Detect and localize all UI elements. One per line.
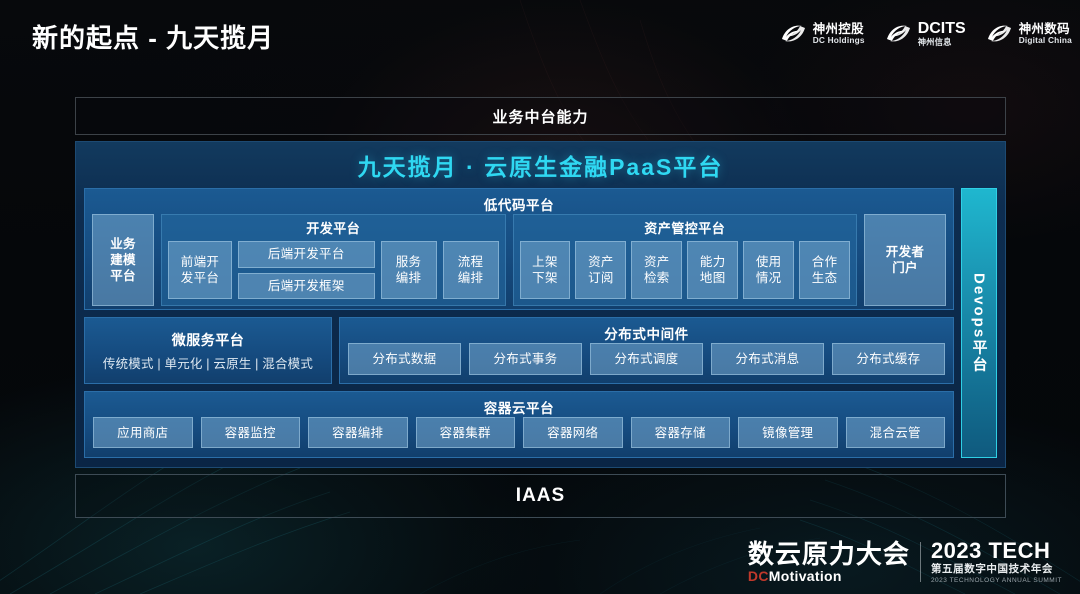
architecture-diagram: 业务中台能力 九天揽月 · 云原生金融PaaS平台 低代码平台 业务 建模 平台… bbox=[75, 97, 1006, 519]
logo-dc-holdings: 神州控股 DC Holdings bbox=[780, 22, 865, 45]
middleware-title: 分布式中间件 bbox=[348, 318, 945, 343]
chip-distributed-scheduling[interactable]: 分布式调度 bbox=[590, 343, 703, 375]
devops-platform-label: Devops平台 bbox=[969, 273, 990, 373]
chip-backend-dev-framework[interactable]: 后端开发框架 bbox=[238, 273, 375, 300]
asset-control-title: 资产管控平台 bbox=[520, 215, 851, 241]
summit-divider bbox=[920, 542, 921, 582]
iaas-label: IAAS bbox=[516, 485, 565, 507]
devops-platform-sidebar[interactable]: Devops平台 bbox=[961, 188, 997, 458]
chip-image-management[interactable]: 镜像管理 bbox=[738, 417, 838, 448]
logo-text: DCITS 神州信息 bbox=[918, 20, 966, 47]
asset-control-subpanel: 资产管控平台 上架 下架 资产 订阅 资产 检索 能力 地图 使用 情况 合作 … bbox=[513, 214, 858, 306]
container-cloud-row: 应用商店 容器监控 容器编排 容器集群 容器网络 容器存储 镜像管理 混合云管 bbox=[93, 417, 945, 448]
summit-year: 2023 TECH bbox=[931, 539, 1062, 563]
summit-name-cn: 数云原力大会 bbox=[748, 541, 910, 567]
chip-service-orchestration[interactable]: 服务 编排 bbox=[381, 241, 437, 299]
dev-platform-row: 前端开 发平台 后端开发平台 后端开发框架 服务 编排 流程 编排 bbox=[168, 241, 499, 299]
chip-asset-search[interactable]: 资产 检索 bbox=[631, 241, 682, 299]
chip-container-orchestration[interactable]: 容器编排 bbox=[308, 417, 408, 448]
paas-platform-title: 九天揽月 · 云原生金融PaaS平台 bbox=[76, 142, 1005, 188]
chip-asset-listing[interactable]: 上架 下架 bbox=[520, 241, 571, 299]
chip-asset-subscription[interactable]: 资产 订阅 bbox=[575, 241, 626, 299]
summit-name-en-suffix: Motivation bbox=[769, 568, 842, 584]
chip-distributed-data[interactable]: 分布式数据 bbox=[348, 343, 461, 375]
asset-control-row: 上架 下架 资产 订阅 资产 检索 能力 地图 使用 情况 合作 生态 bbox=[520, 241, 851, 299]
logo-label-en: DC Holdings bbox=[813, 36, 865, 45]
chip-container-cluster[interactable]: 容器集群 bbox=[416, 417, 516, 448]
backend-chip-stack: 后端开发平台 后端开发框架 bbox=[238, 241, 375, 299]
chip-usage-status[interactable]: 使用 情况 bbox=[743, 241, 794, 299]
swirl-logo-icon bbox=[885, 23, 912, 44]
logo-digital-china: 神州数码 Digital China bbox=[986, 22, 1072, 45]
chip-container-network[interactable]: 容器网络 bbox=[523, 417, 623, 448]
chip-distributed-message[interactable]: 分布式消息 bbox=[711, 343, 824, 375]
middleware-row: 分布式数据 分布式事务 分布式调度 分布式消息 分布式缓存 bbox=[348, 343, 945, 375]
chip-frontend-dev-platform[interactable]: 前端开 发平台 bbox=[168, 241, 232, 299]
chip-distributed-transaction[interactable]: 分布式事务 bbox=[469, 343, 582, 375]
logo-label-cn: DCITS bbox=[918, 20, 966, 38]
logo-label-cn: 神州控股 bbox=[813, 22, 865, 36]
summit-logo: 数云原力大会 DCMotivation 2023 TECH 第五届数字中国技术年… bbox=[748, 539, 1062, 584]
logo-label-cn: 神州数码 bbox=[1019, 22, 1072, 36]
dev-platform-subpanel: 开发平台 前端开 发平台 后端开发平台 后端开发框架 服务 编排 流程 编排 bbox=[161, 214, 506, 306]
microservice-platform-subtitle: 传统模式 | 单元化 | 云原生 | 混合模式 bbox=[103, 353, 313, 372]
summit-logo-right: 2023 TECH 第五届数字中国技术年会 2023 TECHNOLOGY AN… bbox=[931, 539, 1062, 584]
container-cloud-title: 容器云平台 bbox=[93, 392, 945, 417]
paas-layer-stack: 低代码平台 业务 建模 平台 开发平台 前端开 发平台 后端开发平台 后端开发框… bbox=[84, 188, 954, 458]
chip-process-orchestration[interactable]: 流程 编排 bbox=[443, 241, 499, 299]
chip-partner-ecosystem[interactable]: 合作 生态 bbox=[799, 241, 850, 299]
paas-body: 低代码平台 业务 建模 平台 开发平台 前端开 发平台 后端开发平台 后端开发框… bbox=[76, 188, 1005, 466]
logo-text: 神州控股 DC Holdings bbox=[813, 22, 865, 45]
chip-container-monitoring[interactable]: 容器监控 bbox=[201, 417, 301, 448]
summit-logo-left: 数云原力大会 DCMotivation bbox=[748, 541, 910, 583]
summit-name-en: DCMotivation bbox=[748, 569, 910, 583]
logo-dcits: DCITS 神州信息 bbox=[885, 20, 966, 47]
microservice-platform-title: 微服务平台 bbox=[172, 330, 245, 350]
logo-text: 神州数码 Digital China bbox=[1019, 22, 1072, 45]
chip-developer-portal[interactable]: 开发者 门户 bbox=[864, 214, 946, 306]
chip-capability-map[interactable]: 能力 地图 bbox=[687, 241, 738, 299]
logo-label-en: 神州信息 bbox=[918, 38, 966, 47]
chip-app-store[interactable]: 应用商店 bbox=[93, 417, 193, 448]
lowcode-platform-title: 低代码平台 bbox=[92, 189, 946, 214]
chip-container-storage[interactable]: 容器存储 bbox=[631, 417, 731, 448]
swirl-logo-icon bbox=[986, 23, 1013, 44]
chip-distributed-cache[interactable]: 分布式缓存 bbox=[832, 343, 945, 375]
page-title: 新的起点 - 九天揽月 bbox=[32, 18, 274, 55]
chip-hybrid-cloud-management[interactable]: 混合云管 bbox=[846, 417, 946, 448]
paas-platform-card: 九天揽月 · 云原生金融PaaS平台 低代码平台 业务 建模 平台 开发平台 前… bbox=[75, 141, 1006, 468]
business-midplatform-bar: 业务中台能力 bbox=[75, 97, 1006, 135]
logo-label-en: Digital China bbox=[1019, 36, 1072, 45]
swirl-logo-icon bbox=[780, 23, 807, 44]
middleware-panel: 分布式中间件 分布式数据 分布式事务 分布式调度 分布式消息 分布式缓存 bbox=[339, 317, 954, 384]
summit-subtitle-cn: 第五届数字中国技术年会 bbox=[931, 564, 1062, 576]
business-midplatform-label: 业务中台能力 bbox=[492, 106, 588, 127]
microservice-platform-panel: 微服务平台 传统模式 | 单元化 | 云原生 | 混合模式 bbox=[84, 317, 332, 384]
lowcode-platform-panel: 低代码平台 业务 建模 平台 开发平台 前端开 发平台 后端开发平台 后端开发框… bbox=[84, 188, 954, 310]
middle-layer-row: 微服务平台 传统模式 | 单元化 | 云原生 | 混合模式 分布式中间件 分布式… bbox=[84, 317, 954, 384]
container-cloud-panel: 容器云平台 应用商店 容器监控 容器编排 容器集群 容器网络 容器存储 镜像管理… bbox=[84, 391, 954, 458]
dev-platform-title: 开发平台 bbox=[168, 215, 499, 241]
iaas-bar: IAAS bbox=[75, 474, 1006, 518]
brand-logo-group: 神州控股 DC Holdings DCITS 神州信息 神州数码 Digital… bbox=[780, 20, 1072, 47]
chip-business-modeling-platform[interactable]: 业务 建模 平台 bbox=[92, 214, 154, 306]
slide-header: 新的起点 - 九天揽月 神州控股 DC Holdings DCITS 神州信息 bbox=[0, 0, 1080, 68]
summit-subtitle-en: 2023 TECHNOLOGY ANNUAL SUMMIT bbox=[931, 577, 1062, 584]
lowcode-content: 业务 建模 平台 开发平台 前端开 发平台 后端开发平台 后端开发框架 服务 编… bbox=[92, 214, 946, 306]
chip-backend-dev-platform[interactable]: 后端开发平台 bbox=[238, 241, 375, 268]
summit-name-en-prefix: DC bbox=[748, 568, 769, 584]
